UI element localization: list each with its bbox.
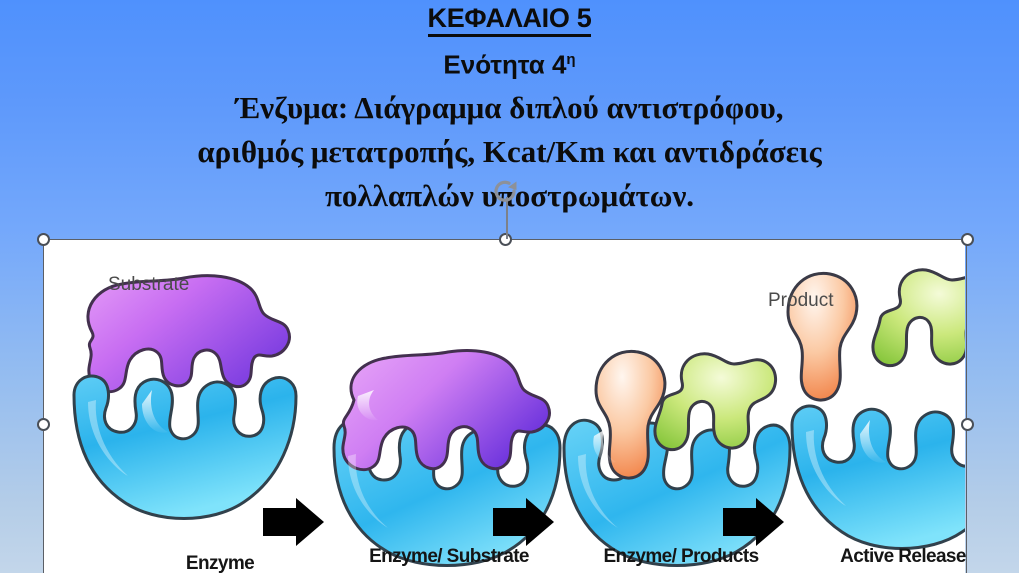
substrate-bound-shape bbox=[343, 351, 550, 470]
enzyme-shape-4 bbox=[792, 406, 966, 549]
chapter-title: ΚΕΦΑΛΑΙΟ 5 bbox=[0, 1, 1019, 35]
panel-caption-enzyme: Enzyme bbox=[130, 553, 310, 573]
enzyme-shape bbox=[74, 376, 296, 519]
rotate-icon[interactable] bbox=[492, 178, 522, 204]
product-green-shape-free bbox=[873, 270, 966, 366]
section-title-text: Ενότητα 4 bbox=[443, 50, 566, 80]
product-label: Product bbox=[768, 290, 833, 312]
chapter-title-text: ΚΕΦΑΛΑΙΟ 5 bbox=[428, 3, 592, 37]
arrow-1 bbox=[263, 498, 324, 546]
section-title: Ενότητα 4η bbox=[0, 43, 1019, 82]
picture-object[interactable]: Substrate Product Enzyme Enzyme/ Substra… bbox=[44, 240, 966, 573]
section-title-ordinal: η bbox=[566, 51, 575, 68]
picture-right-edge-strip bbox=[965, 240, 966, 573]
panel-caption-enzyme-products: Enzyme/ Products bbox=[556, 546, 806, 568]
handle-top-right[interactable] bbox=[961, 233, 974, 246]
powerpoint-slide: ΚΕΦΑΛΑΙΟ 5 Ενότητα 4η Ένζυμα: Διάγραμμα … bbox=[0, 0, 1019, 573]
main-title-line-1: Ένζυμα: Διάγραμμα διπλού αντιστρόφου, bbox=[48, 86, 971, 130]
panel-enzyme-graphic bbox=[74, 276, 296, 519]
handle-top-left[interactable] bbox=[37, 233, 50, 246]
main-title-line-2: αριθμός μετατροπής, Kcat/Km και αντιδράσ… bbox=[48, 130, 971, 174]
handle-middle-left[interactable] bbox=[37, 418, 50, 431]
substrate-label: Substrate bbox=[108, 274, 189, 296]
panel-caption-active-release: Active Release bbox=[788, 546, 1018, 568]
handle-middle-right[interactable] bbox=[961, 418, 974, 431]
panel-caption-enzyme-substrate: Enzyme/ Substrate bbox=[324, 546, 574, 568]
